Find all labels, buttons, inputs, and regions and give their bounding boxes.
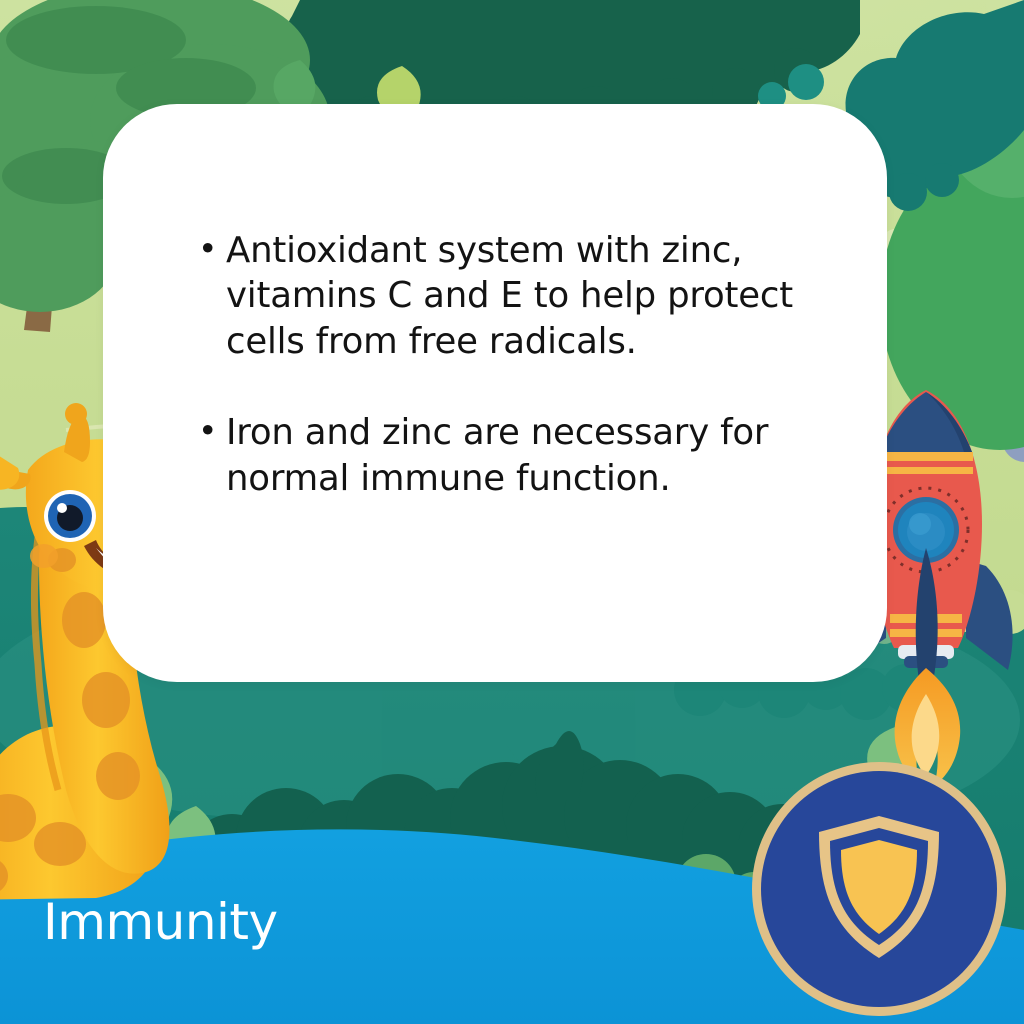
bullet-item: • Iron and zinc are necessary for normal… xyxy=(198,410,818,501)
bullet-list: • Antioxidant system with zinc, vitamins… xyxy=(198,228,818,501)
bullet-marker: • xyxy=(198,228,226,270)
bullet-text: Iron and zinc are necessary for normal i… xyxy=(226,410,818,501)
bullet-item: • Antioxidant system with zinc, vitamins… xyxy=(198,228,818,364)
bullet-marker: • xyxy=(198,410,226,452)
shield-badge xyxy=(748,758,1010,1020)
slide-canvas: • Antioxidant system with zinc, vitamins… xyxy=(0,0,1024,1024)
bullet-text: Antioxidant system with zinc, vitamins C… xyxy=(226,228,818,364)
page-title: Immunity xyxy=(43,897,278,947)
